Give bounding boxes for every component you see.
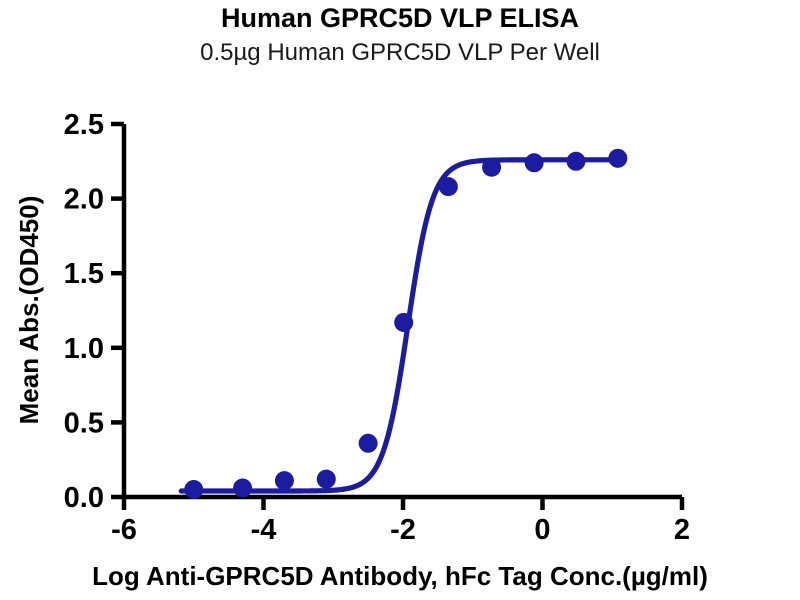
axes-group [124,124,682,497]
y-tick-label: 2.5 [64,109,104,141]
y-tick-label: 0.0 [64,482,104,514]
x-tick-label: 2 [674,514,690,546]
data-point-marker [525,153,544,172]
data-point-marker [439,177,458,196]
data-point-marker [482,158,501,177]
plot-area: 0.00.51.01.52.02.5-6-4-202 Mean Abs.(OD4… [0,0,800,600]
x-tick-label: -6 [111,514,137,546]
series-group [181,149,627,499]
data-point-marker [184,480,203,499]
y-tick-label: 1.5 [64,258,104,290]
y-tick-label: 0.5 [64,407,104,439]
x-axis-title: Log Anti-GPRC5D Antibody, hFc Tag Conc.(… [92,561,708,591]
data-point-marker [394,313,413,332]
y-axis-title: Mean Abs.(OD450) [14,196,44,425]
data-point-marker [566,152,585,171]
x-tick-label: -4 [251,514,277,546]
x-tick-label: 0 [534,514,550,546]
data-point-marker [233,479,252,498]
x-tick-label: -2 [390,514,416,546]
data-point-marker [275,471,294,490]
y-tick-label: 2.0 [64,184,104,216]
ticks-group: 0.00.51.01.52.02.5-6-4-202 [64,109,690,546]
chart-figure: Human GPRC5D VLP ELISA 0.5µg Human GPRC5… [0,0,800,600]
data-point-marker [608,149,627,168]
data-point-marker [317,470,336,489]
data-point-marker [359,434,378,453]
y-tick-label: 1.0 [64,333,104,365]
